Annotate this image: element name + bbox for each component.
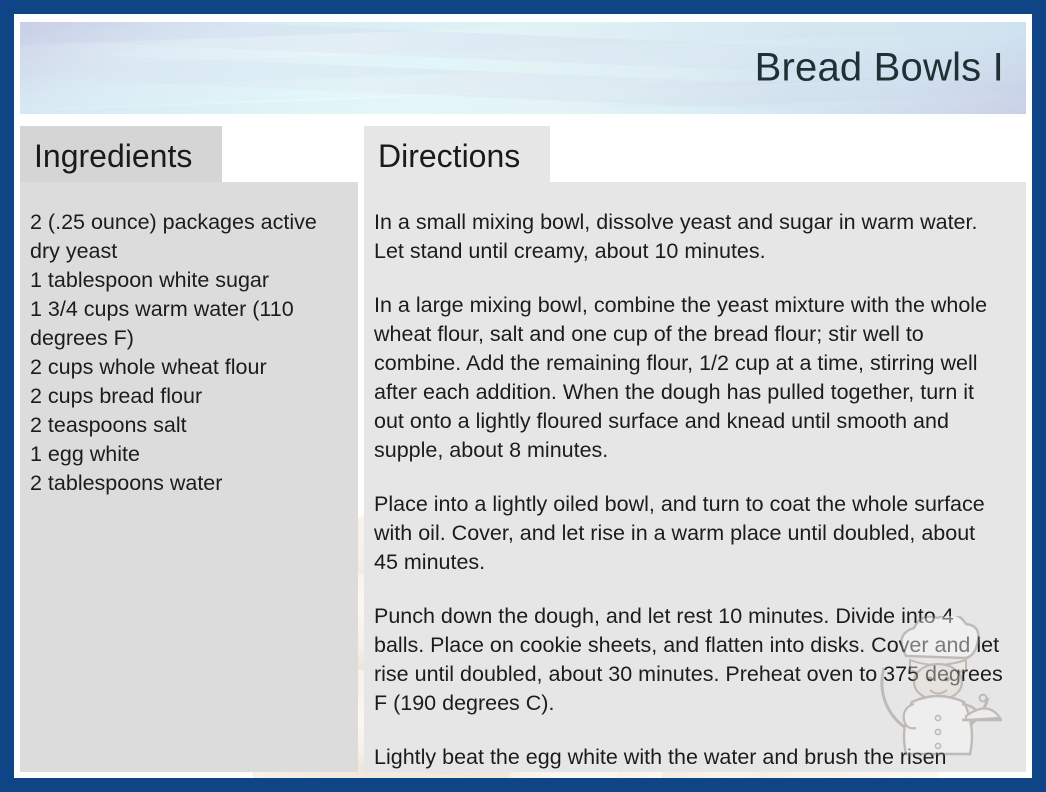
directions-column: Directions In a small mixing bowl, disso… xyxy=(364,126,1026,772)
list-item: 1 tablespoon white sugar xyxy=(30,266,342,295)
list-item: 2 (.25 ounce) packages active dry yeast xyxy=(30,208,342,266)
ingredients-column: Ingredients 2 (.25 ounce) packages activ… xyxy=(20,126,358,772)
directions-heading: Directions xyxy=(378,138,520,174)
title-banner: Bread Bowls I xyxy=(20,22,1026,114)
page-title: Bread Bowls I xyxy=(755,46,1004,91)
list-item: 2 teaspoons salt xyxy=(30,411,342,440)
list-item: 1 egg white xyxy=(30,440,342,469)
ingredients-list: 2 (.25 ounce) packages active dry yeast … xyxy=(30,208,342,498)
direction-step: In a small mixing bowl, dissolve yeast a… xyxy=(374,208,1004,266)
ingredients-heading: Ingredients xyxy=(34,138,192,174)
directions-content: In a small mixing bowl, dissolve yeast a… xyxy=(364,182,1026,772)
tab-ingredients[interactable]: Ingredients xyxy=(20,126,222,182)
direction-step: Lightly beat the egg white with the wate… xyxy=(374,743,1004,772)
list-item: 2 cups bread flour xyxy=(30,382,342,411)
ingredients-content: 2 (.25 ounce) packages active dry yeast … xyxy=(20,182,358,508)
list-item: 2 tablespoons water xyxy=(30,469,342,498)
list-item: 1 3/4 cups warm water (110 degrees F) xyxy=(30,295,342,353)
content-columns: Ingredients 2 (.25 ounce) packages activ… xyxy=(20,126,1026,772)
list-item: 2 cups whole wheat flour xyxy=(30,353,342,382)
direction-step: In a large mixing bowl, combine the yeas… xyxy=(374,291,1004,465)
direction-step: Place into a lightly oiled bowl, and tur… xyxy=(374,490,1004,577)
directions-steps: In a small mixing bowl, dissolve yeast a… xyxy=(374,208,1010,772)
direction-step: Punch down the dough, and let rest 10 mi… xyxy=(374,602,1004,718)
tab-directions[interactable]: Directions xyxy=(364,126,550,182)
recipe-card: Bread Bowls I xyxy=(0,0,1046,792)
